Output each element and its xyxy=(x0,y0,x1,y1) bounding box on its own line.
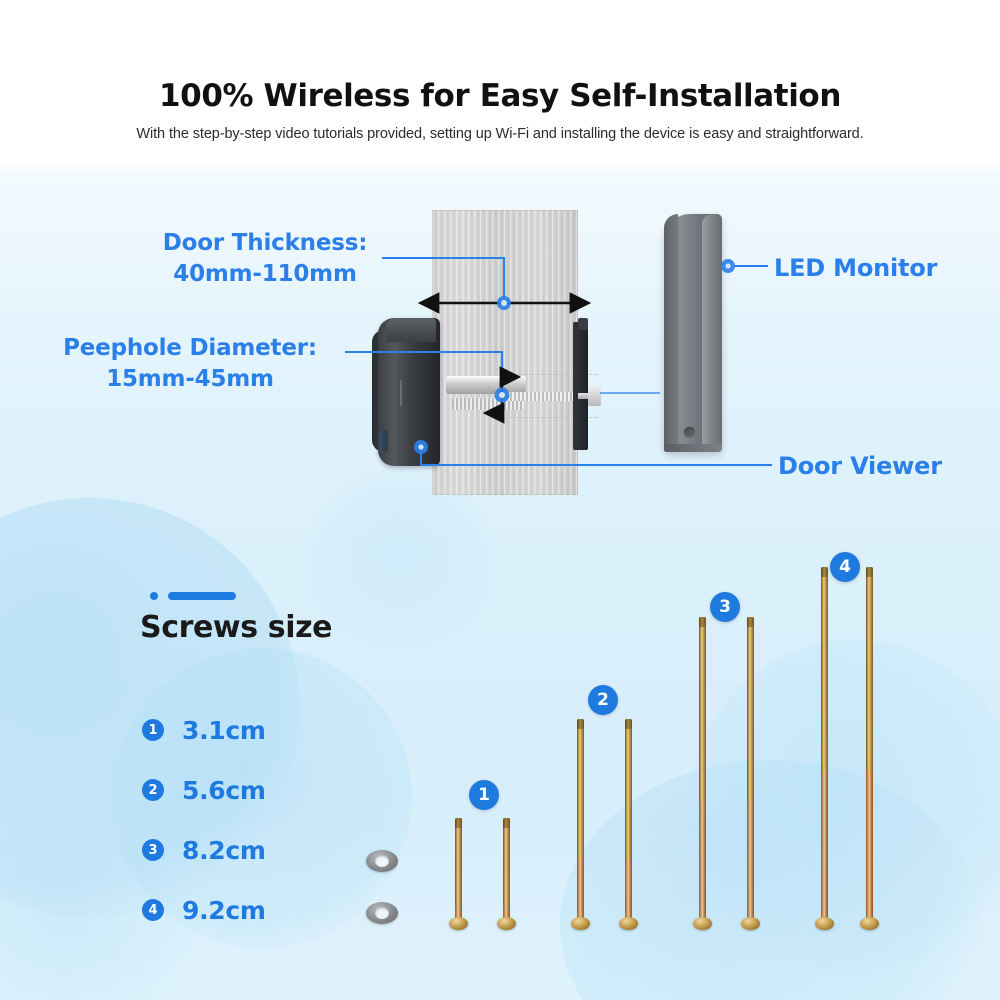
led-monitor-edge xyxy=(664,214,678,452)
screw-group-badge: 2 xyxy=(588,685,618,715)
led-monitor-screw-hole xyxy=(684,427,695,438)
screw-head xyxy=(741,917,760,930)
screw-size-label: 9.2cm xyxy=(182,896,266,925)
screw-illustration xyxy=(577,719,584,921)
screw-tip xyxy=(866,567,873,577)
screw-copper-section xyxy=(821,771,828,921)
screw-size-badge: 3 xyxy=(142,839,164,861)
screw-copper-section xyxy=(866,771,873,921)
screw-group-badge: 1 xyxy=(469,780,499,810)
screw-copper-section xyxy=(577,859,584,921)
screw-tip xyxy=(577,719,584,729)
screw-tip xyxy=(455,818,462,828)
screw-size-badge: 4 xyxy=(142,899,164,921)
screw-group-badge: 4 xyxy=(830,552,860,582)
screw-tip xyxy=(625,719,632,729)
screw-tip xyxy=(503,818,510,828)
screw-size-label: 3.1cm xyxy=(182,716,266,745)
screw-head xyxy=(497,917,516,930)
accent-bar-icon xyxy=(168,592,236,600)
infographic-canvas: 100% Wireless for Easy Self-Installation… xyxy=(0,0,1000,1000)
screws-size-heading: Screws size xyxy=(140,610,332,645)
screw-head xyxy=(619,917,638,930)
callout-door-thickness-line2: 40mm-110mm xyxy=(120,259,410,290)
screw-head xyxy=(815,917,834,930)
mounting-plate xyxy=(573,322,588,450)
callout-peephole-diameter: Peephole Diameter: 15mm-45mm xyxy=(40,333,340,395)
callout-door-thickness: Door Thickness: 40mm-110mm xyxy=(120,228,410,290)
screw-head xyxy=(571,917,590,930)
screw-copper-section xyxy=(625,859,632,921)
washer-illustration xyxy=(366,850,398,872)
screw-size-label: 5.6cm xyxy=(182,776,266,805)
doorbell-camera-seam xyxy=(400,380,402,406)
screw-group-badge: 3 xyxy=(710,592,740,622)
callout-led-monitor: LED Monitor xyxy=(774,254,937,282)
doorbell-camera-button xyxy=(379,430,388,452)
callout-peephole-line1: Peephole Diameter: xyxy=(40,333,340,364)
screw-illustration xyxy=(625,719,632,921)
accent-dot-icon xyxy=(150,592,158,600)
screw-tip xyxy=(699,617,706,627)
doorbell-camera-top xyxy=(386,318,436,342)
screw-illustration xyxy=(866,567,873,921)
page-subtitle: With the step-by-step video tutorials pr… xyxy=(0,126,1000,142)
callout-peephole-line2: 15mm-45mm xyxy=(40,364,340,395)
screw-tip xyxy=(747,617,754,627)
screw-illustration xyxy=(503,818,510,921)
decorative-bubble xyxy=(690,640,1000,970)
callout-door-viewer: Door Viewer xyxy=(778,452,942,480)
led-monitor-base xyxy=(664,444,722,452)
screw-size-label: 8.2cm xyxy=(182,836,266,865)
door-panel-illustration xyxy=(432,210,578,495)
screw-copper-section xyxy=(699,801,706,921)
screw-tip xyxy=(821,567,828,577)
callout-door-thickness-line1: Door Thickness: xyxy=(120,228,410,259)
fixing-screw-head xyxy=(588,386,601,406)
screw-head xyxy=(449,917,468,930)
page-title: 100% Wireless for Easy Self-Installation xyxy=(0,78,1000,114)
screw-size-badge: 1 xyxy=(142,719,164,741)
washer-illustration xyxy=(366,902,398,924)
screw-size-badge: 2 xyxy=(142,779,164,801)
mounting-plate-tab xyxy=(578,318,588,330)
screw-head xyxy=(693,917,712,930)
led-monitor-face xyxy=(702,214,722,452)
screw-illustration xyxy=(699,617,706,921)
screw-copper-section xyxy=(747,801,754,921)
screw-illustration xyxy=(821,567,828,921)
screw-illustration xyxy=(747,617,754,921)
screw-illustration xyxy=(455,818,462,921)
screw-head xyxy=(860,917,879,930)
